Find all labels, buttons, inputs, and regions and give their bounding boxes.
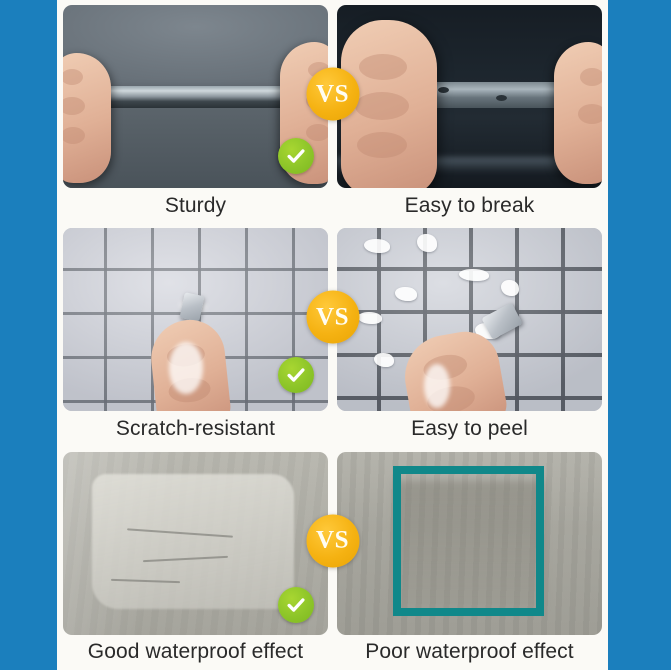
photo-sturdy [63, 5, 328, 188]
photo-poor-waterproof [337, 452, 602, 635]
caption-bad: Poor waterproof effect [337, 635, 602, 670]
photo-good-waterproof [63, 452, 328, 635]
waterproof-coating-patch [92, 474, 293, 609]
hand-right-icon [554, 42, 602, 184]
photo-scratch-resistant [63, 228, 328, 411]
vs-badge: VS [306, 291, 359, 344]
peeling-flake [417, 234, 437, 252]
hand-left-icon [63, 53, 111, 183]
peeling-flake [501, 280, 519, 296]
caption-pair: Good waterproof effect Poor waterproof e… [57, 635, 608, 670]
caption-bad: Easy to peel [337, 411, 602, 446]
photo-easy-to-break [337, 5, 602, 188]
caption-good: Good waterproof effect [63, 635, 328, 670]
comparison-row-waterproof: VS Good waterproof effect Poor waterproo… [57, 447, 608, 670]
comparison-row-durability: VS Sturdy Easy to break [57, 0, 608, 223]
caption-pair: Scratch-resistant Easy to peel [57, 411, 608, 446]
comparison-row-scratch: VS Scratch-resistant Easy to peel [57, 223, 608, 446]
peeling-flake [374, 353, 394, 367]
peeling-flake [395, 287, 417, 301]
image-pair: VS [57, 0, 608, 188]
peeling-flake [459, 269, 489, 281]
strip-pit [496, 95, 507, 101]
status-badge-check [278, 138, 314, 174]
image-pair: VS [57, 223, 608, 411]
caption-good: Scratch-resistant [63, 411, 328, 446]
comparison-card: VS Sturdy Easy to break [57, 0, 608, 670]
status-badge-check [278, 587, 314, 623]
caption-pair: Sturdy Easy to break [57, 188, 608, 223]
photo-easy-to-peel [337, 228, 602, 411]
vs-badge: VS [306, 68, 359, 121]
infographic-page: VS Sturdy Easy to break [0, 0, 671, 670]
teal-marker-square [393, 466, 544, 616]
image-pair: VS [57, 447, 608, 635]
caption-bad: Easy to break [337, 188, 602, 223]
caption-good: Sturdy [63, 188, 328, 223]
coating-smear [169, 342, 203, 394]
vs-badge: VS [306, 514, 359, 567]
